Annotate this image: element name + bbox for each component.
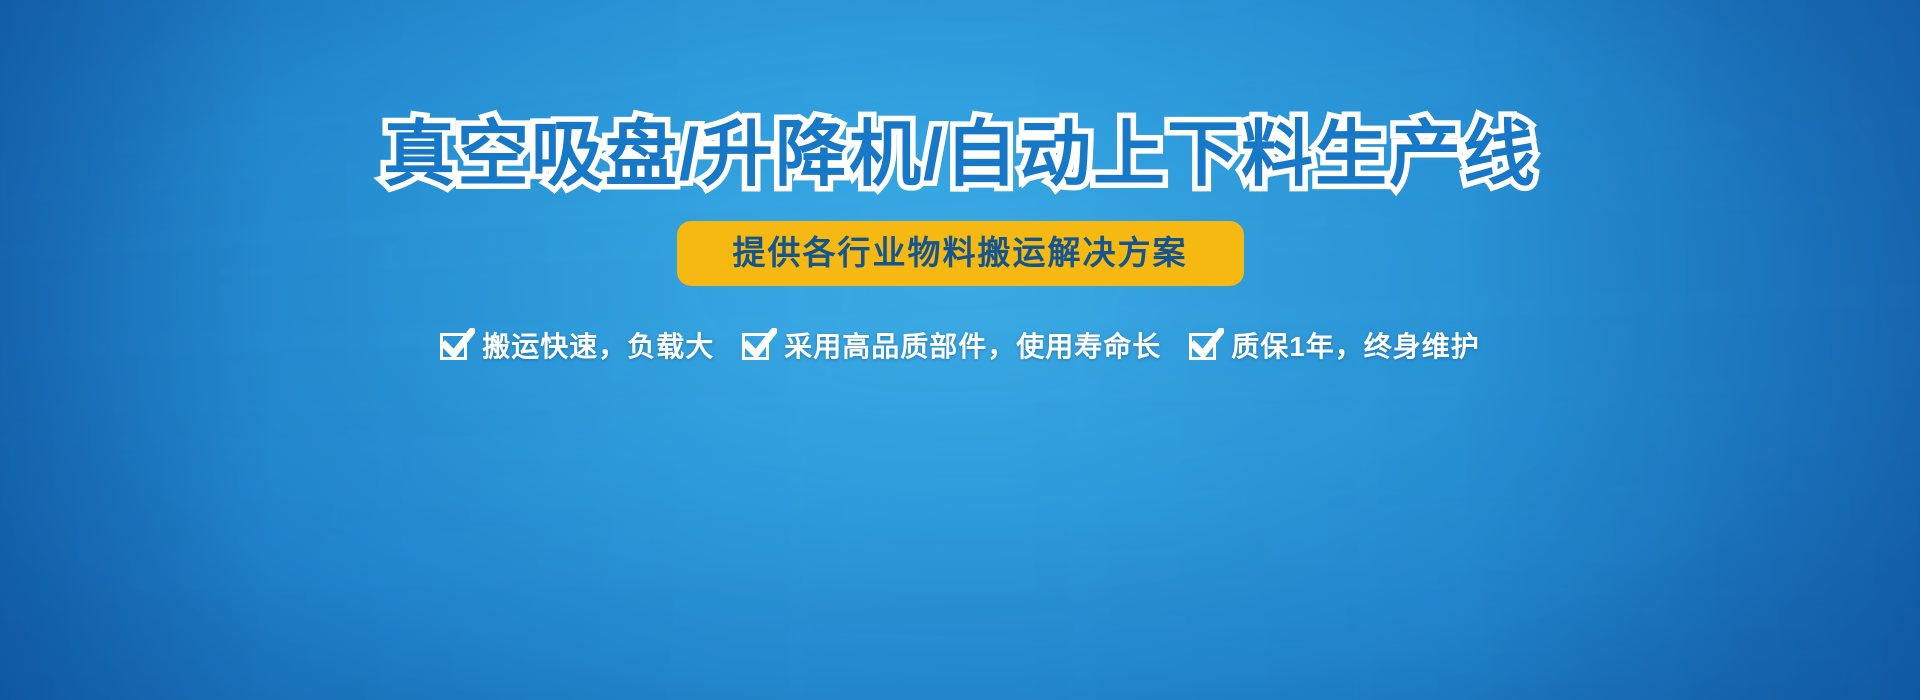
feature-item: 采用高品质部件，使用寿命长 (742, 330, 1161, 363)
feature-label: 搬运快速，负载大 (482, 333, 714, 361)
checkbox-checked-icon (742, 330, 775, 363)
feature-label: 质保1年，终身维护 (1231, 333, 1480, 361)
banner-title: 真空吸盘/升降机/自动上下料生产线 (383, 119, 1537, 191)
feature-list: 搬运快速，负载大 采用高品质部件，使用寿命长 质保1 (440, 330, 1480, 363)
checkbox-checked-icon (440, 330, 473, 363)
feature-label: 采用高品质部件，使用寿命长 (784, 333, 1161, 361)
promo-banner: 真空吸盘/升降机/自动上下料生产线 提供各行业物料搬运解决方案 搬运快速，负载大 (0, 0, 1920, 700)
checkbox-checked-icon (1189, 330, 1222, 363)
feature-item: 搬运快速，负载大 (440, 330, 714, 363)
feature-item: 质保1年，终身维护 (1189, 330, 1480, 363)
banner-content: 真空吸盘/升降机/自动上下料生产线 提供各行业物料搬运解决方案 搬运快速，负载大 (0, 0, 1920, 700)
banner-subtitle-badge: 提供各行业物料搬运解决方案 (677, 221, 1244, 286)
